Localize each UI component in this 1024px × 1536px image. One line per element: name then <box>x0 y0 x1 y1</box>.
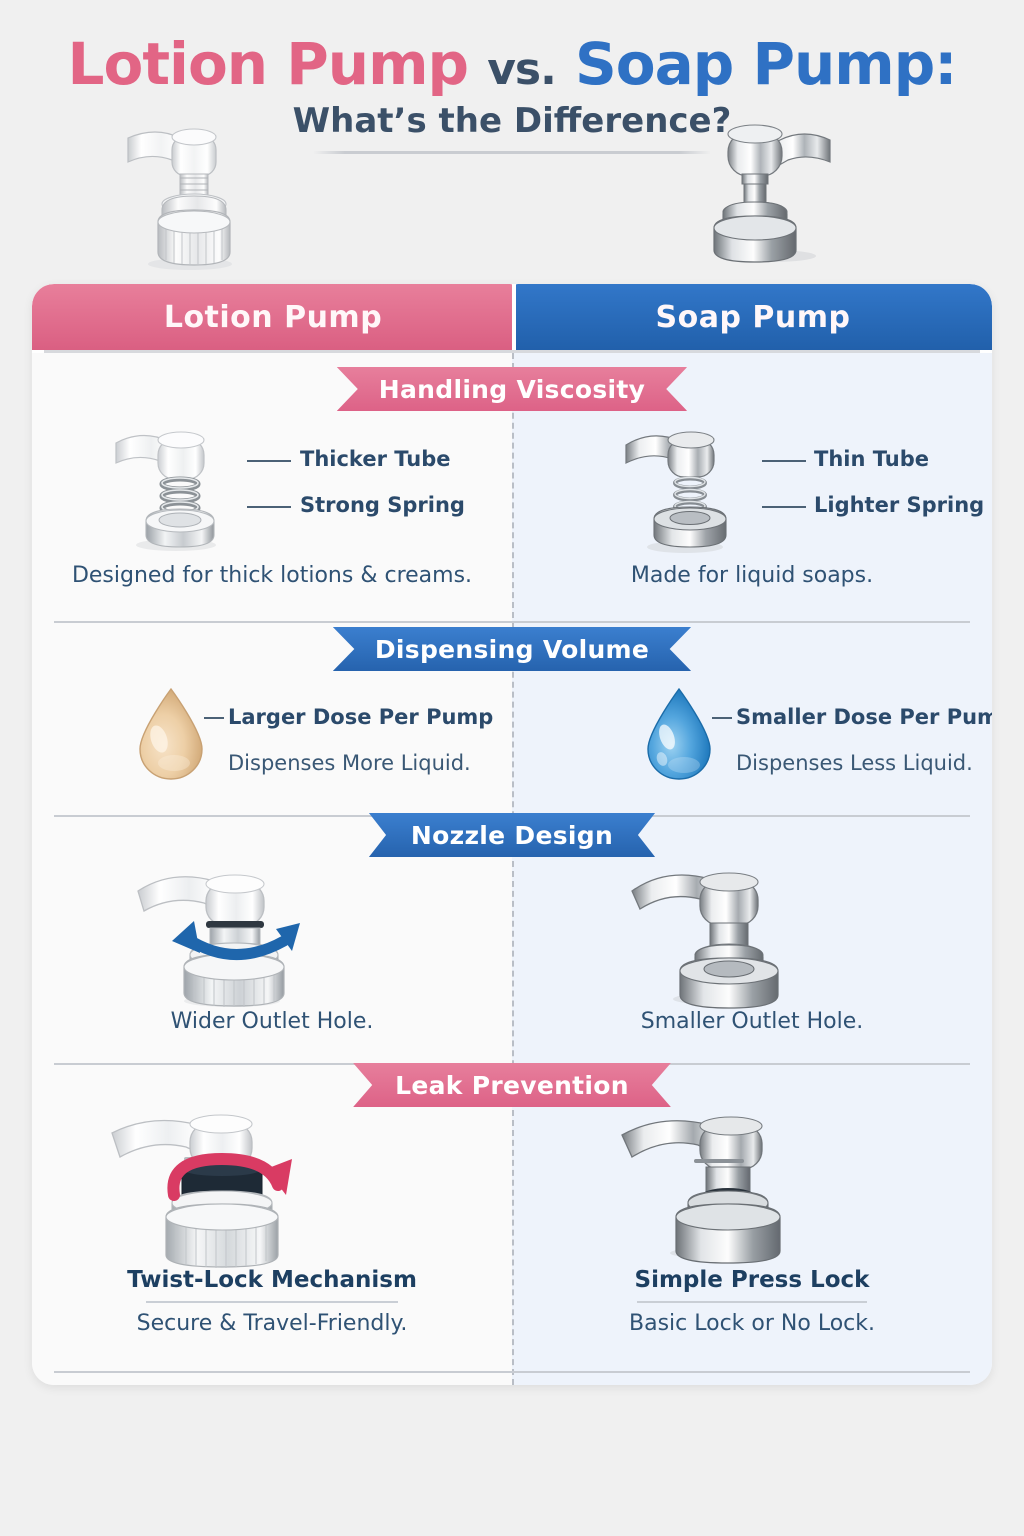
leader-line-lighter-spring <box>762 506 806 508</box>
section-row-leak-prevention: Twist-Lock Mechanism Secure & Travel-Fri… <box>32 1105 992 1375</box>
column-header-soap-label: Soap Pump <box>656 300 851 335</box>
section-banner-nozzle-design: Nozzle Design <box>369 813 655 857</box>
caption-divider-lotion <box>146 1301 398 1303</box>
white-pump-rotation-icon <box>122 863 342 1015</box>
section-row-dispensing-volume: Larger Dose Per Pump Dispenses More Liqu… <box>32 671 992 817</box>
cell-leak-prevention-soap: Simple Press Lock Basic Lock or No Lock. <box>512 1105 992 1375</box>
section-separator-4 <box>54 1371 970 1373</box>
section-banner-leak-prevention: Leak Prevention <box>353 1063 671 1107</box>
white-pump-twist-lock-icon <box>98 1111 338 1271</box>
silver-pump-press-lock-icon <box>614 1111 824 1263</box>
header-gap <box>512 284 516 350</box>
column-header-lotion: Lotion Pump <box>32 284 514 350</box>
caption-soap-leak-title: Simple Press Lock <box>512 1267 992 1293</box>
cell-handling-viscosity-lotion: Thicker Tube Strong Spring Designed for … <box>32 411 512 623</box>
section-separator-1 <box>54 621 970 623</box>
leader-line-thicker-tube <box>247 460 291 462</box>
caption-lotion-viscosity: Designed for thick lotions & creams. <box>32 563 512 588</box>
callout-larger-dose-per-pump: Larger Dose Per Pump <box>228 705 493 729</box>
cream-droplet-icon <box>134 687 208 781</box>
blue-droplet-icon <box>642 687 716 781</box>
silver-soap-pump-icon <box>700 118 850 268</box>
caption-divider-soap <box>637 1301 867 1303</box>
leader-line-smaller-dose <box>712 717 732 719</box>
comparison-body: Handling Viscosity <box>32 353 992 1385</box>
silver-pump-spring-icon <box>620 419 750 559</box>
section-row-handling-viscosity: Thicker Tube Strong Spring Designed for … <box>32 411 992 623</box>
cell-leak-prevention-lotion: Twist-Lock Mechanism Secure & Travel-Fri… <box>32 1105 512 1375</box>
caption-soap-viscosity: Made for liquid soaps. <box>512 563 992 588</box>
cell-nozzle-design-lotion: Wider Outlet Hole. <box>32 855 512 1067</box>
title-soap-pump: Soap Pump: <box>575 30 956 98</box>
column-header-soap: Soap Pump <box>514 284 992 350</box>
leader-line-larger-dose <box>204 717 224 719</box>
callout-thin-tube: Thin Tube <box>814 447 929 471</box>
caption-lotion-nozzle: Wider Outlet Hole. <box>32 1009 512 1034</box>
leader-line-thin-tube <box>762 460 806 462</box>
caption-soap-leak-sub: Basic Lock or No Lock. <box>512 1311 992 1336</box>
title-lotion-pump: Lotion Pump <box>68 30 469 98</box>
cell-dispensing-volume-lotion: Larger Dose Per Pump Dispenses More Liqu… <box>32 671 512 817</box>
caption-soap-volume: Dispenses Less Liquid. <box>736 751 973 775</box>
leader-line-strong-spring <box>247 506 291 508</box>
column-header-lotion-label: Lotion Pump <box>164 300 382 335</box>
silver-pump-nozzle-icon <box>624 861 814 1011</box>
callout-lighter-spring: Lighter Spring <box>814 493 984 517</box>
cell-nozzle-design-soap: Smaller Outlet Hole. <box>512 855 992 1067</box>
section-banner-handling-viscosity: Handling Viscosity <box>337 367 687 411</box>
section-row-nozzle-design: Wider Outlet Hole. <box>32 855 992 1067</box>
white-lotion-pump-icon <box>110 118 270 278</box>
caption-soap-nozzle: Smaller Outlet Hole. <box>512 1009 992 1034</box>
white-pump-spring-icon <box>106 419 246 559</box>
comparison-card: Lotion Pump Soap Pump Handling Viscosity <box>32 284 992 1385</box>
caption-lotion-leak-sub: Secure & Travel-Friendly. <box>32 1311 512 1336</box>
caption-lotion-leak-title: Twist-Lock Mechanism <box>32 1267 512 1293</box>
callout-strong-spring: Strong Spring <box>300 493 465 517</box>
subtitle-divider <box>313 151 711 154</box>
caption-lotion-volume: Dispenses More Liquid. <box>228 751 471 775</box>
callout-smaller-dose-per-pump: Smaller Dose Per Pump <box>736 705 992 729</box>
cell-handling-viscosity-soap: Thin Tube Lighter Spring Made for liquid… <box>512 411 992 623</box>
cell-dispensing-volume-soap: Smaller Dose Per Pump Dispenses Less Liq… <box>512 671 992 817</box>
section-banner-dispensing-volume: Dispensing Volume <box>333 627 691 671</box>
title-vs: vs. <box>487 44 556 95</box>
callout-thicker-tube: Thicker Tube <box>300 447 450 471</box>
page-title: Lotion Pump vs. Soap Pump: <box>0 34 1024 95</box>
